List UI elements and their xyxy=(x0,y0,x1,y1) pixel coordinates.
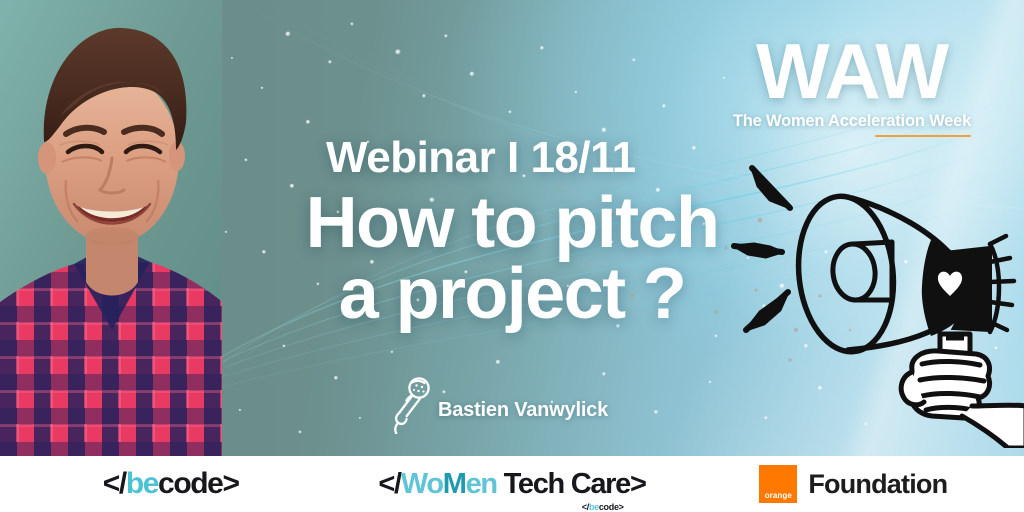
webinar-kicker: Webinar I 18/11 xyxy=(326,133,636,183)
wtc-by-becode: </becode> xyxy=(582,502,624,512)
waw-subtitle-text: The Women Acceleration Week xyxy=(733,112,971,130)
orange-wordmark: orange xyxy=(759,491,797,500)
wtc-rest: Tech Care> xyxy=(497,468,646,500)
footer-logo-bar: </becode> </WoMen Tech Care> </becode> o… xyxy=(0,456,1024,512)
orange-foundation-logo[interactable]: orange Foundation xyxy=(759,465,947,503)
orange-square-icon: orange xyxy=(759,465,797,503)
speaker-name: Bastien Vanwylick xyxy=(438,399,608,434)
webinar-banner: WAW The Women Acceleration Week Webinar … xyxy=(0,0,1024,512)
wtc-wordmark: </WoMen Tech Care> xyxy=(378,468,645,501)
megaphone-icon xyxy=(726,148,1024,448)
wtc-sub-be: be xyxy=(589,502,599,512)
headline-line-2: a project ? xyxy=(262,259,762,330)
waw-brand-block: WAW The Women Acceleration Week xyxy=(722,34,982,131)
wtc-m: M xyxy=(443,468,466,500)
women-tech-care-logo[interactable]: </WoMen Tech Care> </becode> xyxy=(378,468,645,501)
waw-title: WAW xyxy=(722,34,982,108)
wtc-sub-close: > xyxy=(619,502,624,512)
foundation-wordmark: Foundation xyxy=(808,469,947,500)
speaker-credit: Bastien Vanwylick xyxy=(388,376,608,434)
headline: How to pitch a project ? xyxy=(262,188,762,329)
logo-slot-becode: </becode> xyxy=(0,467,341,501)
wtc-sub-code: code xyxy=(599,502,619,512)
wtc-sub-open: </ xyxy=(582,502,589,512)
headline-line-1: How to pitch xyxy=(306,183,719,263)
microphone-icon xyxy=(388,376,432,434)
waw-subtitle: The Women Acceleration Week xyxy=(733,112,971,131)
becode-open-tag: </ xyxy=(103,467,126,500)
speaker-portrait xyxy=(0,0,222,456)
becode-code: code xyxy=(158,467,222,500)
wtc-wo: Wo xyxy=(401,468,443,500)
becode-close-tag: > xyxy=(222,467,238,500)
logo-slot-orange-foundation: orange Foundation xyxy=(683,465,1024,503)
wtc-open-tag: </ xyxy=(378,468,400,500)
becode-be: be xyxy=(126,467,158,500)
becode-logo[interactable]: </becode> xyxy=(103,467,239,501)
waw-underline-accent xyxy=(875,135,971,138)
wtc-en: en xyxy=(466,468,497,500)
logo-slot-women-tech-care: </WoMen Tech Care> </becode> xyxy=(341,468,682,501)
